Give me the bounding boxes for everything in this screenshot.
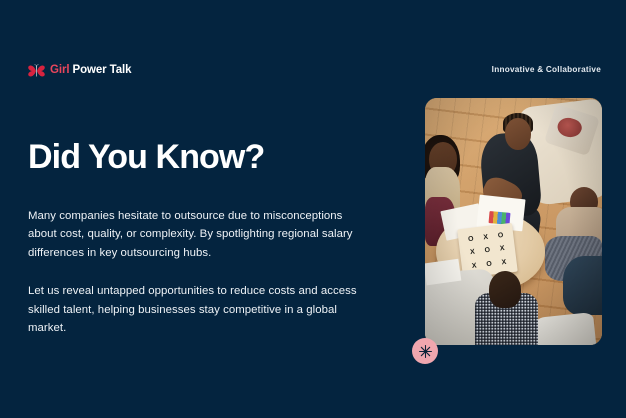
brand-logo[interactable]: Girl Power Talk <box>28 62 131 80</box>
paragraph-1: Many companies hesitate to outsource due… <box>28 207 368 262</box>
body-copy: Many companies hesitate to outsource due… <box>28 207 368 338</box>
asterisk-icon <box>418 344 433 359</box>
tagline: Innovative & Collaborative <box>492 65 601 74</box>
brand-name: Girl Power Talk <box>50 65 131 77</box>
paragraph-2: Let us reveal untapped opportunities to … <box>28 282 368 337</box>
photo-board-grid: O X O X O X X O X <box>463 228 513 274</box>
butterfly-icon <box>28 64 45 78</box>
slide-canvas: Girl Power Talk Innovative & Collaborati… <box>0 0 626 418</box>
brand-name-power-talk: Power Talk <box>73 64 132 76</box>
asterisk-badge <box>412 338 438 364</box>
photo-person-bottom-head <box>489 271 521 308</box>
photo-person-top-head <box>505 118 532 150</box>
photo-meeting: O X O X O X X O X <box>425 98 602 345</box>
photo-bag <box>533 312 597 345</box>
photo-chair-bottom-right <box>563 256 602 315</box>
photo-frame: O X O X O X X O X <box>425 98 602 345</box>
brand-name-girl: Girl <box>50 64 69 76</box>
page-title: Did You Know? <box>28 140 264 176</box>
board-cell: X <box>496 255 513 270</box>
